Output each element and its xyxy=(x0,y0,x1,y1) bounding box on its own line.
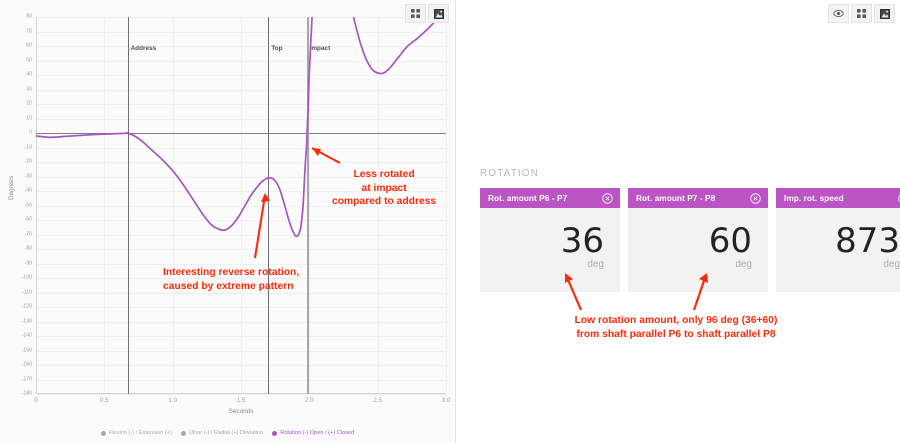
y-axis-tick: -120 xyxy=(22,304,32,309)
x-axis-tick: 2.5 xyxy=(373,398,382,404)
legend-dot-icon xyxy=(101,431,106,436)
y-axis-tick: -160 xyxy=(22,362,32,367)
section-title-rotation: ROTATION xyxy=(480,168,539,179)
close-icon[interactable] xyxy=(750,193,761,204)
y-axis-tick: 30 xyxy=(26,87,32,92)
x-axis-tick: 1.5 xyxy=(237,398,246,404)
y-axis-tick: 40 xyxy=(26,72,32,77)
y-axis-tick: -90 xyxy=(25,261,33,266)
metric-card-body: 873 deg xyxy=(776,208,900,292)
y-axis-tick: -150 xyxy=(22,348,32,353)
legend-label: Rotation (-) Open / (+) Closed xyxy=(280,430,354,436)
metric-card-header: Rot. amount P6 - P7 xyxy=(480,188,620,208)
metric-unit: deg xyxy=(735,259,752,270)
y-axis-tick: -80 xyxy=(25,246,33,251)
y-axis-tick: -10 xyxy=(25,145,33,150)
y-axis-tick: -70 xyxy=(25,232,33,237)
grid-icon[interactable] xyxy=(405,4,426,23)
x-axis-tick: 1.0 xyxy=(168,398,177,404)
image-export-icon[interactable] xyxy=(428,4,449,23)
y-axis-tick: -140 xyxy=(22,333,32,338)
y-axis-tick: -20 xyxy=(25,159,33,164)
metric-unit: deg xyxy=(883,259,900,270)
metric-card: Imp. rot. speed 873 deg xyxy=(776,188,900,292)
x-axis-tick: 0.5 xyxy=(100,398,109,404)
metric-card-header: Imp. rot. speed xyxy=(776,188,900,208)
legend-label: Flexion (-) / Extension (+) xyxy=(109,430,172,436)
y-axis-tick: 10 xyxy=(26,116,32,121)
y-axis-tick: -100 xyxy=(22,275,32,280)
y-axis-tick: -170 xyxy=(22,377,32,382)
metric-value: 873 xyxy=(835,225,900,258)
annot-reverse-rotation: Interesting reverse rotation, caused by … xyxy=(163,266,299,293)
metric-card-body: 60 deg xyxy=(628,208,768,292)
metric-card-row: Rot. amount P6 - P7 36 deg Rot. amount P… xyxy=(480,188,900,292)
metric-unit: deg xyxy=(587,259,604,270)
annot-less-rotated: Less rotated at impact compared to addre… xyxy=(332,168,436,209)
y-axis-tick: 0 xyxy=(29,130,32,135)
image-export-icon[interactable] xyxy=(874,4,895,23)
metric-card: Rot. amount P7 - P8 60 deg xyxy=(628,188,768,292)
grid-icon[interactable] xyxy=(851,4,872,23)
chart-panel: Degrees Seconds 80706050403020100-10-20-… xyxy=(0,0,456,443)
y-axis-tick: 50 xyxy=(26,58,32,63)
metric-card-title: Imp. rot. speed xyxy=(784,194,844,203)
close-icon[interactable] xyxy=(602,193,613,204)
x-axis-tick: 0 xyxy=(34,398,37,404)
y-axis-tick: -110 xyxy=(22,290,32,295)
right-panel: ROTATION Rot. amount P6 - P7 36 deg xyxy=(456,0,900,443)
x-axis-tick: 3.0 xyxy=(442,398,451,404)
y-axis-title: Degrees xyxy=(8,176,15,200)
y-axis-tick: -30 xyxy=(25,174,33,179)
y-axis-tick: -50 xyxy=(25,203,33,208)
chart-legend: Flexion (-) / Extension (+) Ulnar (-) / … xyxy=(0,430,455,436)
right-toolbar xyxy=(828,4,895,23)
metric-card-body: 36 deg xyxy=(480,208,620,292)
y-axis-tick: 20 xyxy=(26,101,32,106)
y-axis-tick: -130 xyxy=(22,319,32,324)
chart-toolbar xyxy=(405,4,449,23)
y-axis-tick: 70 xyxy=(26,29,32,34)
y-axis-tick: 60 xyxy=(26,43,32,48)
metric-card: Rot. amount P6 - P7 36 deg xyxy=(480,188,620,292)
metric-card-title: Rot. amount P6 - P7 xyxy=(488,194,567,203)
y-axis-tick: -40 xyxy=(25,188,33,193)
legend-item-rotation[interactable]: Rotation (-) Open / (+) Closed xyxy=(272,430,354,436)
gridline-horizontal xyxy=(36,394,446,395)
metric-value: 60 xyxy=(709,225,752,258)
annot-low-rotation: Low rotation amount, only 96 deg (36+60)… xyxy=(476,314,876,342)
legend-label: Ulnar (-) / Radial (+) Deviation xyxy=(189,430,263,436)
y-axis-tick: -60 xyxy=(25,217,33,222)
x-axis-title: Seconds xyxy=(229,408,254,415)
y-axis-tick: 80 xyxy=(26,14,32,19)
metric-card-header: Rot. amount P7 - P8 xyxy=(628,188,768,208)
legend-dot-icon xyxy=(272,431,277,436)
metric-value: 36 xyxy=(561,225,604,258)
eye-icon[interactable] xyxy=(828,4,849,23)
metric-card-title: Rot. amount P7 - P8 xyxy=(636,194,715,203)
y-axis-tick: -180 xyxy=(22,391,32,396)
x-axis-tick: 2.0 xyxy=(305,398,314,404)
legend-dot-icon xyxy=(181,431,186,436)
legend-item-ulnar[interactable]: Ulnar (-) / Radial (+) Deviation xyxy=(181,430,263,436)
gridline-vertical xyxy=(446,17,447,394)
legend-item-flexion[interactable]: Flexion (-) / Extension (+) xyxy=(101,430,172,436)
